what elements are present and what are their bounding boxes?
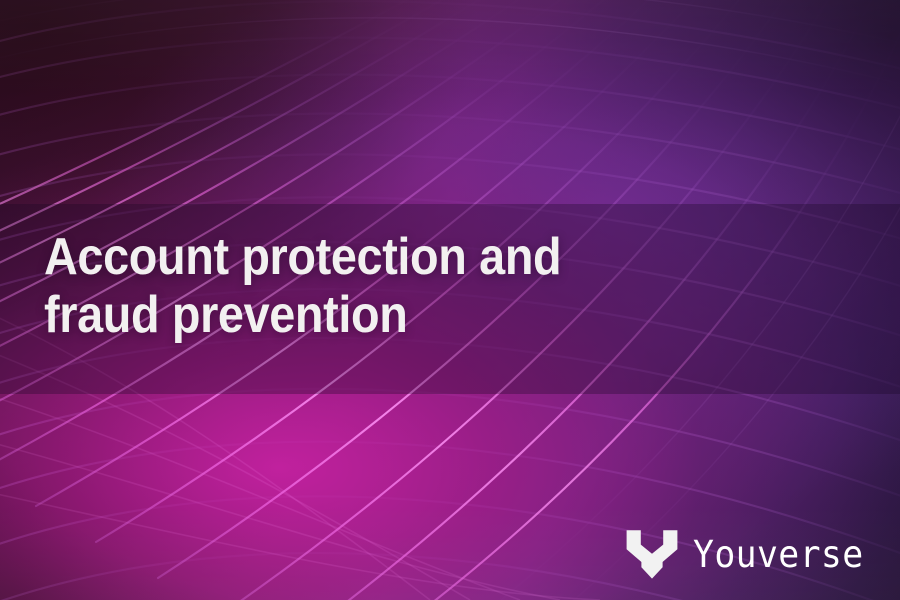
page-title: Account protection and fraud prevention xyxy=(44,228,561,344)
brand-logo[interactable]: Youverse xyxy=(625,528,874,580)
marketing-banner: Account protection and fraud prevention … xyxy=(0,0,900,600)
double-chevron-down-icon xyxy=(625,528,679,580)
brand-wordmark: Youverse xyxy=(693,536,864,573)
